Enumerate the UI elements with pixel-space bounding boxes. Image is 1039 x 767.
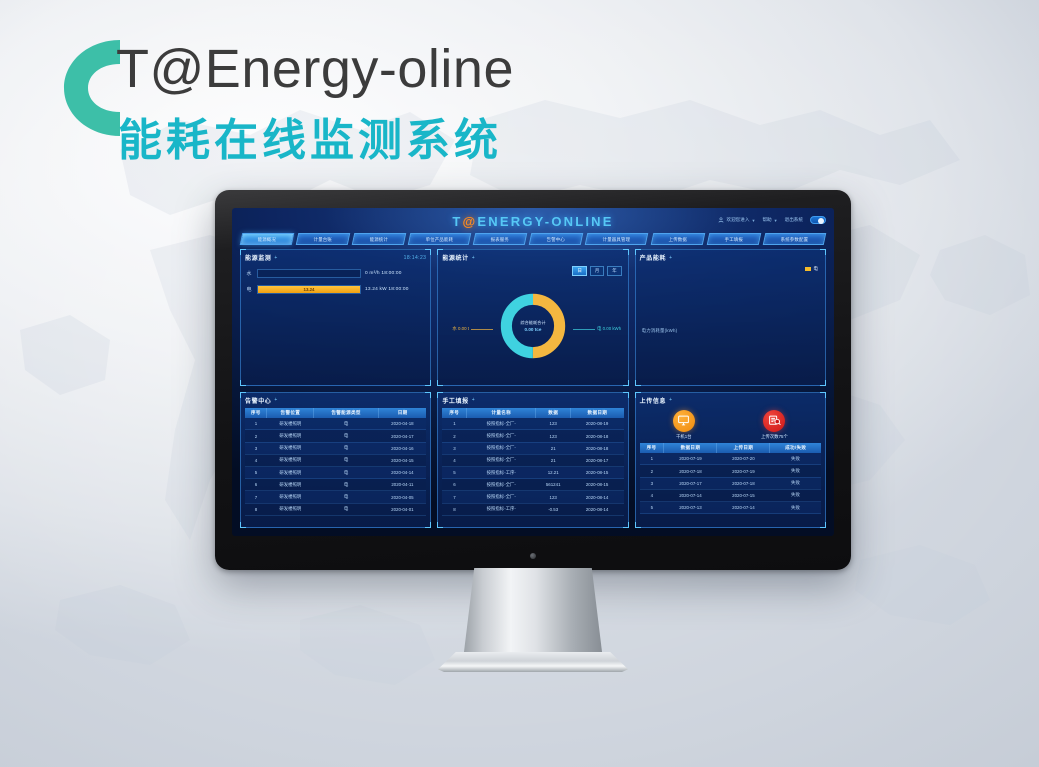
nav-tab-1[interactable]: 计量台账: [296, 233, 351, 245]
table-cell: 2020-04-16: [378, 442, 426, 454]
table-cell: 2020-04-11: [378, 479, 426, 491]
table-cell: 2020-04-01: [378, 503, 426, 515]
table-row[interactable]: 6按照指标-全厂-5612412020-08-15: [442, 479, 623, 491]
table-cell: 6: [245, 479, 267, 491]
alarm-table: 序号告警位置告警能源类型日期1研发楼照明电2020-04-182研发楼照明电20…: [245, 408, 426, 516]
monitor-stand-neck: [463, 568, 603, 660]
panel-title: 上传信息: [640, 396, 666, 405]
table-row[interactable]: 52020-07-132020-07-14失败: [640, 502, 821, 514]
energy-bar-label: 水: [245, 270, 253, 277]
table-row[interactable]: 8研发楼照明电2020-04-01: [245, 503, 426, 515]
nav-tab-3[interactable]: 单位产品能耗: [408, 233, 472, 245]
table-cell: 失败: [770, 502, 821, 514]
table-cell: 研发楼照明: [267, 467, 314, 479]
table-row[interactable]: 1研发楼照明电2020-04-18: [245, 418, 426, 430]
column-header: 成功/失败: [770, 443, 821, 454]
chart-legend: 电: [805, 266, 818, 272]
donut-center-title: 综合能耗合计: [520, 320, 545, 326]
energy-bar-list: 水0 m³/h 18:00:00电13.2413.24 kW 18:00:00: [245, 269, 426, 294]
table-cell: 按照指标-全厂-: [467, 454, 536, 466]
header-right: 欢迎您进入 ▼ 帮助 ▼ 退出系统: [718, 216, 826, 224]
table-cell: 按照指标-全厂-: [467, 418, 536, 430]
donut-label-water-text: 水 0.00 t: [452, 326, 469, 332]
table-row[interactable]: 2按照指标-全厂-1232020-08-18: [442, 430, 623, 442]
table-cell: 1: [442, 418, 466, 430]
page-title-cn: 能耗在线监测系统: [118, 104, 502, 168]
dashboard-screen: T@ENERGY-ONLINE 欢迎您进入 ▼ 帮助 ▼ 退出系统: [232, 208, 834, 536]
table-cell: 按照指标-全厂-: [467, 491, 536, 503]
monitor-icon: [673, 410, 695, 432]
legend-label: 电: [813, 266, 818, 272]
manual-entry-table: 序号计量名称数据数据日期1按照指标-全厂-1232020-08-192按照指标-…: [442, 408, 623, 516]
upload-stats: 干机1台 上传次数75个: [640, 410, 821, 440]
table-row[interactable]: 8按照指标-工序--0.532020-08-14: [442, 503, 623, 515]
table-row[interactable]: 4按照指标-全厂-212020-08-17: [442, 454, 623, 466]
panel-header-manual-entry: 手工填报 +: [442, 396, 623, 405]
table-cell: 研发楼照明: [267, 503, 314, 515]
table-cell: 6: [442, 479, 466, 491]
nav-tab-5[interactable]: 告警中心: [529, 233, 584, 245]
table-header-row: 序号数据日期上传日期成功/失败: [640, 443, 821, 454]
upload-stat-machines[interactable]: 干机1台: [673, 410, 695, 440]
table-cell: 561241: [536, 479, 571, 491]
app-title-prefix: T: [452, 214, 462, 229]
table-cell: 5: [245, 467, 267, 479]
energy-bar-track: 13.24: [257, 285, 361, 294]
expand-icon[interactable]: +: [669, 255, 673, 261]
expand-icon[interactable]: +: [274, 397, 278, 403]
table-cell: 3: [442, 442, 466, 454]
upload-table: 序号数据日期上传日期成功/失败12020-07-192020-07-20失败22…: [640, 443, 821, 515]
table-cell: 研发楼照明: [267, 454, 314, 466]
table-cell: 2020-08-17: [571, 454, 624, 466]
panel-product-energy: 产品能耗 + 电 电力消耗量(kWh): [635, 249, 826, 386]
table-cell: 4: [640, 489, 664, 501]
expand-icon[interactable]: +: [669, 397, 673, 403]
table-cell: 21: [536, 454, 571, 466]
table-cell: 2020-08-15: [571, 479, 624, 491]
monitor-mockup: T@ENERGY-ONLINE 欢迎您进入 ▼ 帮助 ▼ 退出系统: [215, 190, 851, 570]
donut-chart: 综合能耗合计 0.00 tce: [496, 289, 570, 363]
table-row[interactable]: 7按照指标-全厂-1232020-08-14: [442, 491, 623, 503]
table-row[interactable]: 22020-07-182020-07-19失败: [640, 465, 821, 477]
monitor-stand-base: [434, 652, 632, 672]
donut-center-value: 0.00 tce: [525, 327, 542, 332]
column-header: 计量名称: [467, 408, 536, 419]
upload-stat-count-caption: 上传次数75个: [761, 434, 788, 440]
table-cell: 7: [245, 491, 267, 503]
panel-header-product-energy: 产品能耗 +: [640, 253, 821, 262]
table-cell: -0.53: [536, 503, 571, 515]
expand-icon[interactable]: +: [274, 255, 278, 261]
table-cell: 2020-08-14: [571, 491, 624, 503]
table-cell: 1: [640, 453, 664, 465]
energy-bar-value: 13.24 kW 18:00:00: [365, 287, 409, 292]
y-axis-label: 电力消耗量(kWh): [642, 328, 678, 334]
expand-icon[interactable]: +: [472, 397, 476, 403]
monitor-timestamp: 18:14:23: [404, 255, 427, 261]
panel-title: 产品能耗: [640, 253, 666, 262]
help-menu[interactable]: 帮助 ▼: [762, 217, 777, 223]
nav-tab-9[interactable]: 系统参数配置: [762, 233, 826, 245]
table-header-row: 序号告警位置告警能源类型日期: [245, 408, 426, 419]
column-header: 数据日期: [571, 408, 624, 419]
nav-tab-7[interactable]: 上传数据: [650, 233, 705, 245]
table-cell: 电: [314, 467, 379, 479]
nav-tab-label: 计量台账: [298, 234, 348, 246]
table-cell: 失败: [770, 465, 821, 477]
nav-tab-label: 报表服务: [475, 234, 525, 246]
upload-stat-machines-caption: 干机1台: [676, 434, 692, 440]
table-cell: 电: [314, 430, 379, 442]
table-cell: 按照指标-全厂-: [467, 442, 536, 454]
panel-manual-entry: 手工填报 + 序号计量名称数据数据日期1按照指标-全厂-1232020-08-1…: [437, 392, 628, 529]
c-letter-logo-icon: [52, 30, 126, 146]
table-cell: 失败: [770, 489, 821, 501]
energy-bar-row-0: 水0 m³/h 18:00:00: [245, 269, 426, 278]
table-cell: 2020-08-19: [571, 418, 624, 430]
table-row[interactable]: 7研发楼照明电2020-04-05: [245, 491, 426, 503]
table-cell: 2020-08-14: [571, 503, 624, 515]
nav-tab-2[interactable]: 能源统计: [352, 233, 407, 245]
nav-tab-label: 能源概况: [242, 234, 292, 246]
table-cell: 按照指标-工序-: [467, 467, 536, 479]
user-name: 欢迎您进入: [726, 217, 749, 223]
donut-label-power: 电 0.00 kWh: [573, 326, 621, 332]
table-cell: 2020-07-15: [717, 489, 770, 501]
donut-label-power-text: 电 0.00 kWh: [597, 326, 621, 332]
nav-tab-label: 单位产品能耗: [410, 234, 469, 246]
nav-tab-0[interactable]: 能源概况: [240, 233, 295, 245]
donut-center: 综合能耗合计 0.00 tce: [496, 289, 570, 363]
mode-toggle[interactable]: [810, 216, 826, 224]
table-cell: 3: [245, 442, 267, 454]
column-header: 数据日期: [664, 443, 717, 454]
table-cell: 2020-07-18: [717, 477, 770, 489]
column-header: 告警位置: [267, 408, 314, 419]
table-cell: 电: [314, 454, 379, 466]
nav-tab-label: 能源统计: [354, 234, 404, 246]
table-cell: 研发楼照明: [267, 442, 314, 454]
table-row[interactable]: 12020-07-192020-07-20失败: [640, 453, 821, 465]
column-header: 序号: [245, 408, 267, 419]
logout-menu[interactable]: 退出系统: [785, 217, 803, 223]
main-nav: 能源概况计量台账能源统计单位产品能耗报表服务告警中心计量器具管理上传数据手工填报…: [241, 233, 825, 245]
energy-bar-fill: 13.24: [258, 286, 360, 293]
table-row[interactable]: 5研发楼照明电2020-04-14: [245, 467, 426, 479]
table-cell: 8: [442, 503, 466, 515]
table-cell: 失败: [770, 453, 821, 465]
table-cell: 电: [314, 442, 379, 454]
table-cell: 2020-07-17: [664, 477, 717, 489]
chevron-down-icon: ▼: [751, 218, 755, 223]
table-row[interactable]: 3按照指标-全厂-212020-08-18: [442, 442, 623, 454]
table-row[interactable]: 6研发楼照明电2020-04-11: [245, 479, 426, 491]
table-cell: 2020-08-18: [571, 442, 624, 454]
monitor-bezel: T@ENERGY-ONLINE 欢迎您进入 ▼ 帮助 ▼ 退出系统: [215, 190, 851, 570]
nav-tab-label: 上传数据: [652, 234, 702, 246]
table-cell: 3: [640, 477, 664, 489]
table-cell: 2: [442, 430, 466, 442]
table-cell: 2020-07-14: [717, 502, 770, 514]
panel-title: 手工填报: [442, 396, 468, 405]
table-cell: 2020-07-19: [717, 465, 770, 477]
nav-tab-label: 计量器具管理: [587, 234, 646, 246]
user-icon: [718, 217, 724, 223]
dashboard-grid: 能源监测 + 18:14:23 水0 m³/h 18:00:00电13.2413…: [240, 249, 826, 528]
table-cell: 电: [314, 479, 379, 491]
table-row[interactable]: 32020-07-172020-07-18失败: [640, 477, 821, 489]
page-title-en: T@Energy-oline: [116, 38, 514, 100]
energy-bar-track: [257, 269, 361, 278]
panel-header-upload-info: 上传信息 +: [640, 396, 821, 405]
table-cell: 123: [536, 491, 571, 503]
nav-tab-6[interactable]: 计量器具管理: [585, 233, 649, 245]
table-cell: 2020-07-14: [664, 489, 717, 501]
table-cell: 研发楼照明: [267, 430, 314, 442]
chevron-down-icon-2: ▼: [774, 218, 778, 223]
table-cell: 2020-04-15: [378, 454, 426, 466]
table-cell: 8: [245, 503, 267, 515]
table-cell: 2: [245, 430, 267, 442]
table-cell: 2020-08-15: [571, 467, 624, 479]
nav-tab-label: 手工填报: [709, 234, 759, 246]
table-cell: 研发楼照明: [267, 418, 314, 430]
app-title-at: @: [463, 214, 478, 229]
table-cell: 4: [245, 454, 267, 466]
table-cell: 12.21: [536, 467, 571, 479]
nav-tab-label: 系统参数配置: [765, 234, 824, 246]
panel-upload-info: 上传信息 + 干机1台: [635, 392, 826, 529]
table-cell: 5: [640, 502, 664, 514]
nav-tab-label: 告警中心: [531, 234, 581, 246]
upload-stat-count[interactable]: 上传次数75个: [761, 410, 788, 440]
table-cell: 2020-07-13: [664, 502, 717, 514]
panel-header-alarm-center: 告警中心 +: [245, 396, 426, 405]
expand-icon[interactable]: +: [472, 255, 476, 261]
table-cell: 电: [314, 418, 379, 430]
nav-tab-8[interactable]: 手工填报: [706, 233, 761, 245]
nav-tab-4[interactable]: 报表服务: [473, 233, 528, 245]
table-cell: 2: [640, 465, 664, 477]
logout-label: 退出系统: [785, 217, 803, 223]
table-cell: 2020-07-19: [664, 453, 717, 465]
table-cell: 电: [314, 503, 379, 515]
panel-energy-monitor: 能源监测 + 18:14:23 水0 m³/h 18:00:00电13.2413…: [240, 249, 431, 386]
table-cell: 研发楼照明: [267, 491, 314, 503]
table-cell: 123: [536, 418, 571, 430]
panel-title: 能源监测: [245, 253, 271, 262]
table-cell: 2020-07-20: [717, 453, 770, 465]
table-cell: 1: [245, 418, 267, 430]
donut-label-water: 水 0.00 t: [452, 326, 493, 332]
panel-header-energy-stats: 能源统计 +: [442, 253, 623, 262]
table-cell: 2020-07-18: [664, 465, 717, 477]
panel-energy-stats: 能源统计 + 日月年 水 0.00 t: [437, 249, 628, 386]
energy-bar-value: 0 m³/h 18:00:00: [365, 271, 402, 276]
column-header: 序号: [640, 443, 664, 454]
column-header: 数据: [536, 408, 571, 419]
table-header-row: 序号计量名称数据数据日期: [442, 408, 623, 419]
energy-bar-label: 电: [245, 286, 253, 293]
app-title-suffix: ENERGY-ONLINE: [477, 214, 613, 229]
table-cell: 2020-04-18: [378, 418, 426, 430]
table-cell: 2020-04-17: [378, 430, 426, 442]
legend-swatch-icon: [805, 267, 811, 271]
table-cell: 失败: [770, 477, 821, 489]
table-cell: 电: [314, 491, 379, 503]
panel-header-energy-monitor: 能源监测 + 18:14:23: [245, 253, 426, 262]
table-cell: 7: [442, 491, 466, 503]
table-cell: 4: [442, 454, 466, 466]
table-cell: 按照指标-全厂-: [467, 479, 536, 491]
table-row[interactable]: 2研发楼照明电2020-04-17: [245, 430, 426, 442]
column-header: 上传日期: [717, 443, 770, 454]
table-cell: 研发楼照明: [267, 479, 314, 491]
table-cell: 按照指标-全厂-: [467, 430, 536, 442]
user-menu[interactable]: 欢迎您进入 ▼: [718, 217, 755, 223]
panel-title: 告警中心: [245, 396, 271, 405]
table-row[interactable]: 1按照指标-全厂-1232020-08-19: [442, 418, 623, 430]
table-cell: 21: [536, 442, 571, 454]
column-header: 日期: [378, 408, 426, 419]
table-cell: 2020-04-05: [378, 491, 426, 503]
donut-chart-wrap: 水 0.00 t 综合能耗合计 0.00 tce: [438, 274, 627, 379]
table-cell: 2020-08-18: [571, 430, 624, 442]
table-row[interactable]: 4研发楼照明电2020-04-15: [245, 454, 426, 466]
help-label: 帮助: [762, 217, 771, 223]
panel-alarm-center: 告警中心 + 序号告警位置告警能源类型日期1研发楼照明电2020-04-182研…: [240, 392, 431, 529]
column-header: 告警能源类型: [314, 408, 379, 419]
table-row[interactable]: 3研发楼照明电2020-04-16: [245, 442, 426, 454]
table-cell: 123: [536, 430, 571, 442]
table-row[interactable]: 5按照指标-工序-12.212020-08-15: [442, 467, 623, 479]
column-header: 序号: [442, 408, 466, 419]
table-row[interactable]: 42020-07-142020-07-15失败: [640, 489, 821, 501]
panel-title: 能源统计: [442, 253, 468, 262]
energy-bar-row-1: 电13.2413.24 kW 18:00:00: [245, 285, 426, 294]
table-cell: 按照指标-工序-: [467, 503, 536, 515]
document-search-icon: [763, 410, 785, 432]
table-cell: 2020-04-14: [378, 467, 426, 479]
table-cell: 5: [442, 467, 466, 479]
